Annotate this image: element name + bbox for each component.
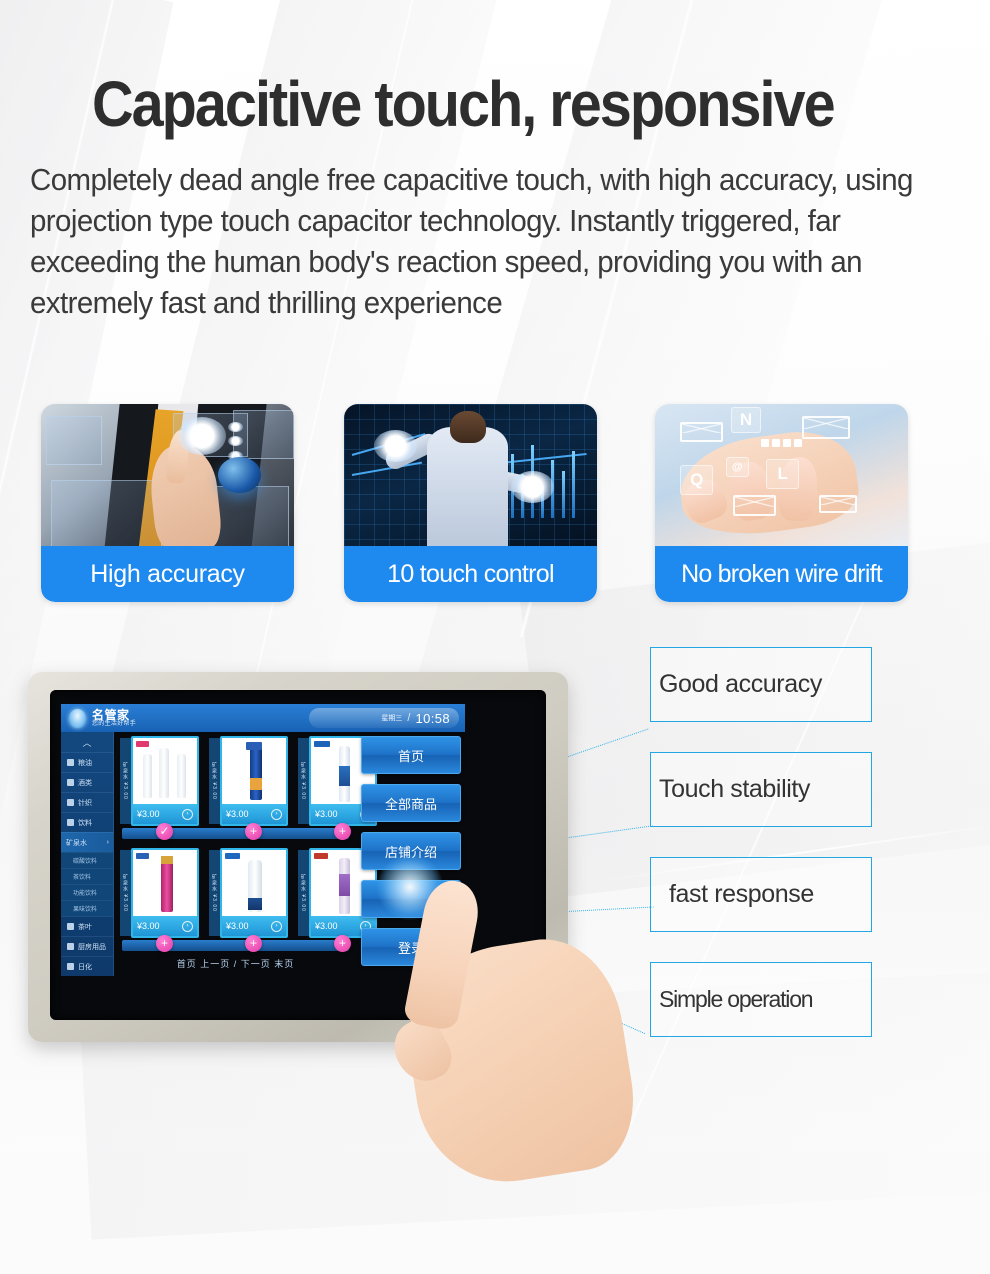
photo-businessman-holographic — [41, 404, 294, 550]
touch-ripple-effect — [377, 854, 443, 920]
product-image-pink-drink — [133, 850, 197, 920]
feature-card-caption: High accuracy — [41, 546, 294, 602]
sidebar-subitem-carbonated[interactable]: 碳酸饮料 — [61, 852, 113, 868]
sidebar-item-label: 矿泉水 — [66, 838, 87, 848]
cart-icon[interactable]: › — [182, 921, 193, 932]
sidebar-item-label: 厨房用品 — [78, 942, 106, 952]
sidebar-subitem-tea[interactable]: 茶饮料 — [61, 868, 113, 884]
product-shelf-row: 矿泉水 ¥3.00 ¥3.00› 矿泉水 ¥3.00 — [118, 736, 353, 844]
product-image-sparkling-water — [222, 850, 286, 920]
product-price: ¥3.00 — [315, 809, 338, 819]
feature-card-row: High accuracy 10 touch control — [0, 404, 990, 610]
app-title: 名管家 — [92, 709, 136, 722]
sidebar-item-alcohol[interactable]: 酒类 — [61, 772, 113, 792]
pot-icon — [67, 943, 74, 950]
callout-label: Good accuracy — [659, 670, 822, 699]
product-price: ¥3.00 — [137, 809, 160, 819]
sidebar-item-label: 针织 — [78, 798, 92, 808]
sidebar-subitem-functional[interactable]: 功能饮料 — [61, 884, 113, 900]
product-add-button[interactable]: + — [334, 935, 351, 952]
sidebar-item-label: 日化 — [78, 962, 92, 972]
product-card[interactable]: ¥3.00› — [220, 848, 288, 938]
product-price: ¥3.00 — [137, 921, 160, 931]
envelope-icon — [819, 495, 857, 514]
envelope-icon — [733, 495, 776, 517]
product-card[interactable]: ¥3.00› — [131, 736, 199, 826]
callout-good-accuracy[interactable]: Good accuracy — [650, 647, 872, 722]
app-subtitle: 您的生活好帮手 — [92, 721, 136, 727]
touch-panel-device: 名管家 您的生活好帮手 星期三 / 10:58 ︿ 粮油 酒类 针织 饮料 矿泉… — [28, 672, 568, 1042]
action-button-column: 首页 全部商品 店铺介绍 登录 — [361, 736, 461, 972]
product-vertical-label: 矿泉水 ¥3.00 — [209, 738, 220, 824]
sidebar-item-household[interactable]: 日化 — [61, 956, 113, 976]
app-header-bar: 名管家 您的生活好帮手 星期三 / 10:58 — [61, 704, 465, 732]
product-add-button[interactable]: + — [334, 823, 351, 840]
product-added-check[interactable]: ✓ — [156, 823, 173, 840]
key-q-icon: Q — [680, 465, 713, 494]
button-home[interactable]: 首页 — [361, 736, 461, 774]
page-header: Capacitive touch, responsive Completely … — [0, 0, 990, 324]
sidebar-item-knitwear[interactable]: 针织 — [61, 792, 113, 812]
product-price: ¥3.00 — [226, 809, 249, 819]
sidebar-item-label: 饮料 — [78, 818, 92, 828]
page-title: Capacitive touch, responsive — [92, 72, 873, 136]
chevron-right-icon: › — [107, 839, 109, 846]
cart-icon[interactable]: › — [271, 921, 282, 932]
key-n-icon: N — [731, 407, 761, 433]
clock-label: 10:58 — [415, 711, 450, 726]
status-separator: / — [407, 712, 410, 724]
sidebar-item-mineral-water-selected[interactable]: 矿泉水 › — [61, 832, 113, 852]
page-description: Completely dead angle free capacitive to… — [30, 160, 914, 324]
grid-icon — [67, 799, 74, 806]
callout-label: fast response — [669, 880, 814, 909]
callout-label: Touch stability — [659, 775, 810, 804]
app-logo-icon — [69, 709, 86, 728]
feature-card-10-touch-control[interactable]: 10 touch control — [344, 404, 597, 602]
product-image-blue-bottle — [222, 738, 286, 808]
product-card[interactable]: ¥3.00› — [131, 848, 199, 938]
cart-icon[interactable]: › — [182, 809, 193, 820]
feature-card-high-accuracy[interactable]: High accuracy — [41, 404, 294, 602]
key-at-icon: @ — [726, 457, 749, 477]
cart-icon[interactable]: › — [271, 809, 282, 820]
product-add-button[interactable]: + — [245, 935, 262, 952]
bag-icon — [67, 759, 74, 766]
product-price: ¥3.00 — [315, 921, 338, 931]
product-grid: 矿泉水 ¥3.00 ¥3.00› 矿泉水 ¥3.00 — [114, 732, 357, 976]
sidebar-item-tea-leaf[interactable]: 茶叶 — [61, 916, 113, 936]
envelope-icon — [802, 416, 850, 439]
product-vertical-label: 矿泉水 ¥3.00 — [298, 850, 309, 936]
sidebar-item-grain-oil[interactable]: 粮油 — [61, 752, 113, 772]
bottle-icon — [67, 819, 74, 826]
key-l-icon: L — [766, 459, 799, 488]
callout-label: Simple operation — [659, 986, 812, 1013]
device-screen[interactable]: 名管家 您的生活好帮手 星期三 / 10:58 ︿ 粮油 酒类 针织 饮料 矿泉… — [61, 704, 465, 976]
product-price: ¥3.00 — [226, 921, 249, 931]
product-add-button[interactable]: + — [245, 823, 262, 840]
feature-card-caption: No broken wire drift — [655, 546, 908, 602]
sidebar-item-beverage[interactable]: 饮料 — [61, 812, 113, 832]
envelope-icon — [680, 422, 723, 442]
wine-icon — [67, 779, 74, 786]
product-shelf-row: 矿泉水 ¥3.00 ¥3.00› 矿泉水 ¥3.00 — [118, 848, 353, 956]
product-add-button[interactable]: + — [156, 935, 173, 952]
status-bar: 星期三 / 10:58 — [309, 708, 459, 728]
product-image-three-bottles — [133, 738, 197, 808]
sidebar-item-label: 酒类 — [78, 778, 92, 788]
sidebar-item-label: 粮油 — [78, 758, 92, 768]
callout-touch-stability[interactable]: Touch stability — [650, 752, 872, 827]
weekday-label: 星期三 — [381, 713, 402, 723]
button-login[interactable]: 登录 — [361, 928, 461, 966]
photo-man-data-dashboard — [344, 404, 597, 550]
product-card[interactable]: ¥3.00› — [220, 736, 288, 826]
button-all-products[interactable]: 全部商品 — [361, 784, 461, 822]
soap-icon — [67, 963, 74, 970]
sidebar-scroll-up-icon[interactable]: ︿ — [61, 732, 113, 752]
feature-card-caption: 10 touch control — [344, 546, 597, 602]
product-vertical-label: 矿泉水 ¥3.00 — [120, 850, 131, 936]
callout-simple-operation[interactable]: Simple operation — [650, 962, 872, 1037]
feature-card-no-broken-wire-drift[interactable]: N Q L @ No broken wire drift — [655, 404, 908, 602]
pagination-bar[interactable]: 首页 上一页 / 下一页 末页 — [114, 957, 357, 970]
sidebar-item-label: 茶叶 — [78, 922, 92, 932]
product-vertical-label: 矿泉水 ¥3.00 — [298, 738, 309, 824]
product-vertical-label: 矿泉水 ¥3.00 — [120, 738, 131, 824]
product-vertical-label: 矿泉水 ¥3.00 — [209, 850, 220, 936]
callout-fast-response[interactable]: fast response — [650, 857, 872, 932]
sidebar-subitem-fruit[interactable]: 果味饮料 — [61, 900, 113, 916]
category-sidebar[interactable]: ︿ 粮油 酒类 针织 饮料 矿泉水 › 碳酸饮料 茶饮料 功能饮料 果味饮料 茶… — [61, 732, 114, 976]
sidebar-item-kitchen[interactable]: 厨房用品 — [61, 936, 113, 956]
leaf-icon — [67, 923, 74, 930]
photo-hand-email-icons: N Q L @ — [655, 404, 908, 550]
